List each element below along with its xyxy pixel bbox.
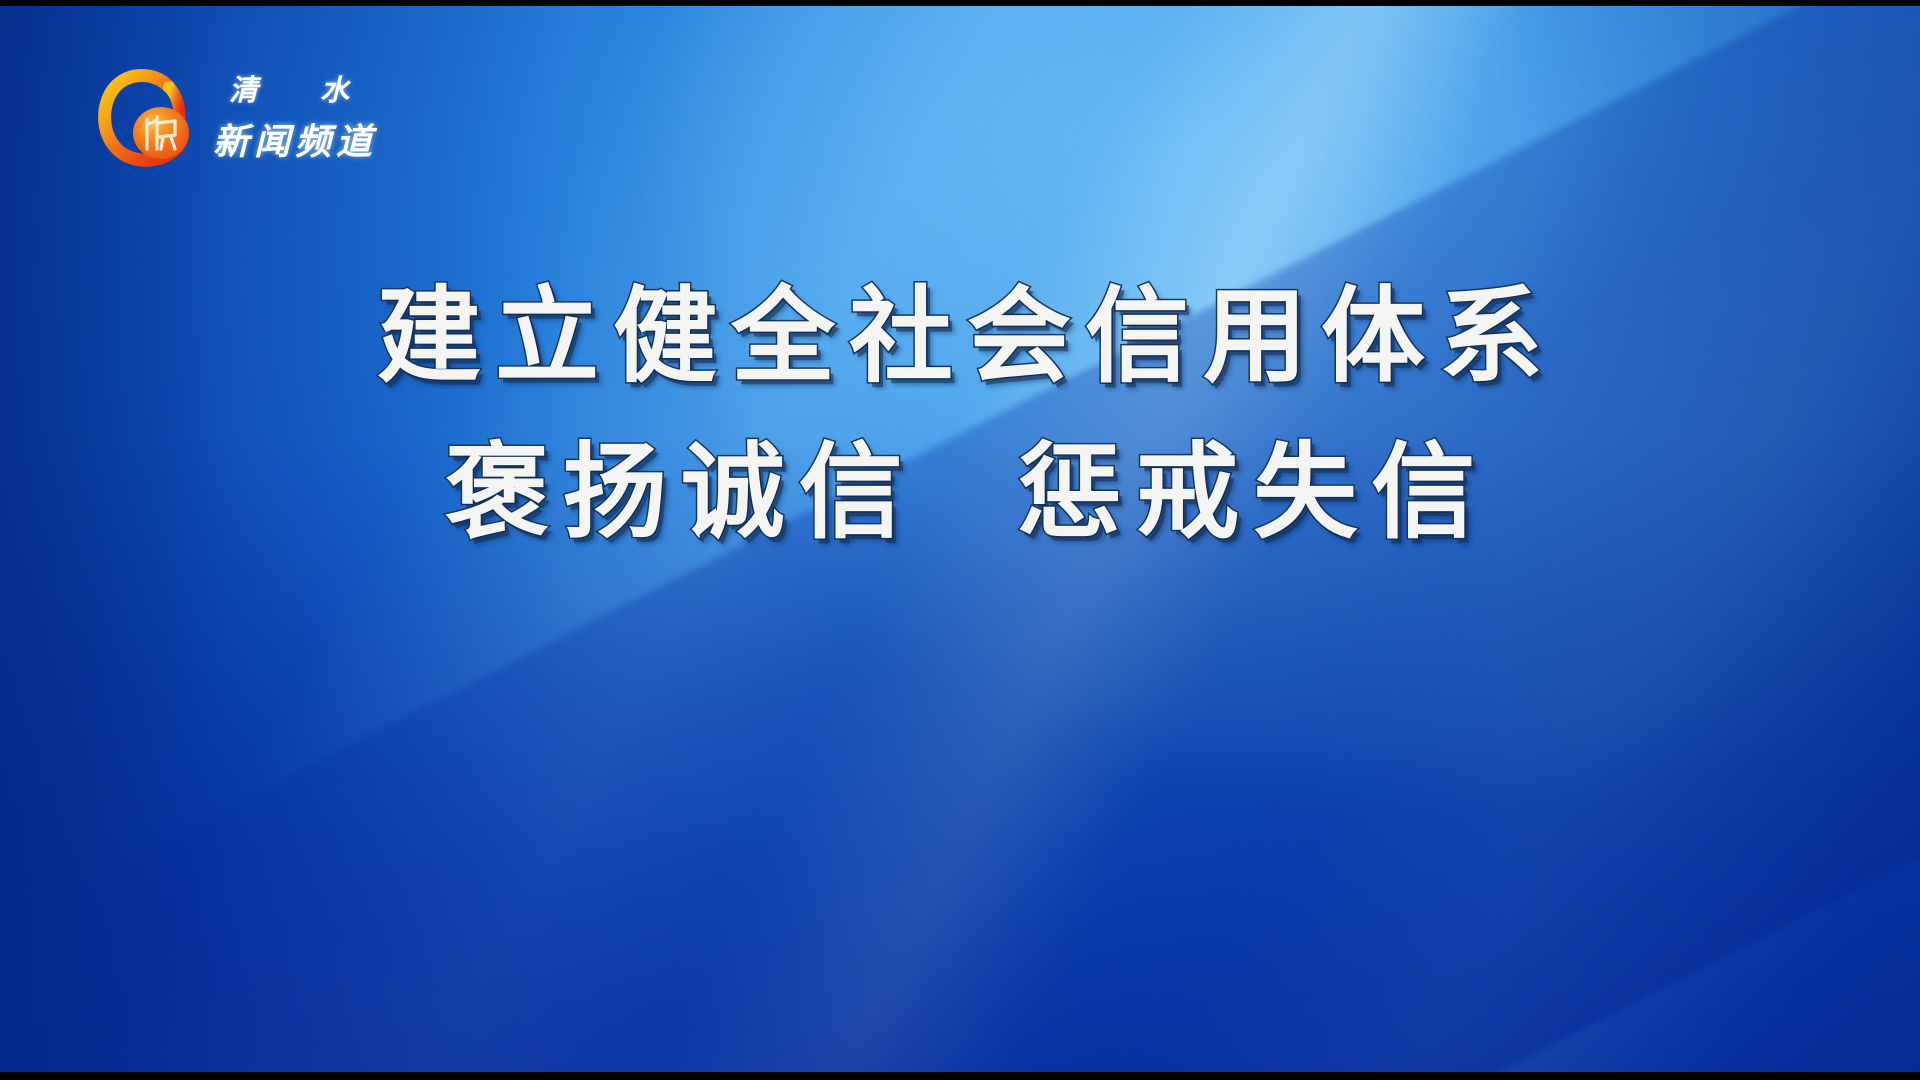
letterbox-bar-top (0, 0, 1920, 6)
channel-logo: 清 水 新闻频道 (95, 55, 395, 180)
channel-logo-text: 清 水 新闻频道 (213, 55, 393, 177)
slogan-line-1: 建立健全社会信用体系 (0, 278, 1920, 394)
broadcast-graphic-frame: 清 水 新闻频道 建立健全社会信用体系 褒扬诚信 惩戒失信 (0, 0, 1920, 1080)
channel-name-line-top: 清 水 (229, 67, 375, 109)
slogan-line-2: 褒扬诚信 惩戒失信 (0, 434, 1920, 550)
orange-ring-swoosh-icon (95, 61, 203, 173)
channel-name-line-bottom: 新闻频道 (213, 113, 377, 165)
slogan-title-block: 建立健全社会信用体系 褒扬诚信 惩戒失信 (0, 278, 1920, 551)
letterbox-bar-bottom (0, 1072, 1920, 1080)
